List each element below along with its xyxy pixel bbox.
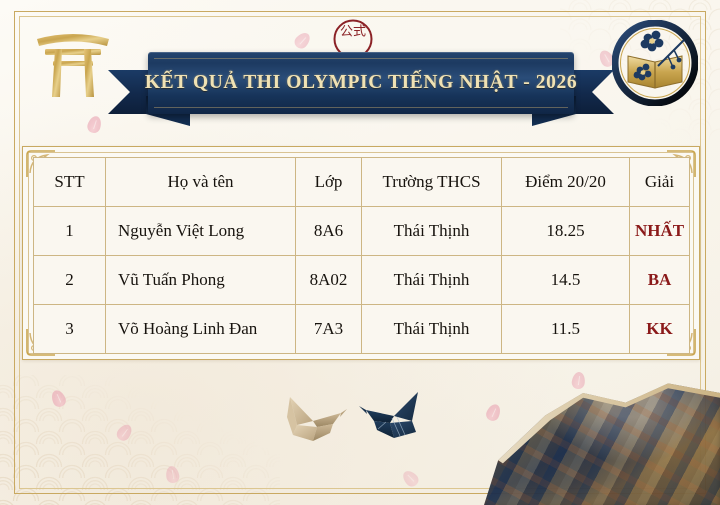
- cell-stt: 1: [34, 207, 106, 256]
- seigaiha-wave-pattern-icon: [0, 375, 280, 505]
- sakura-petal-icon: [49, 388, 68, 409]
- cell-giai: BA: [630, 256, 690, 305]
- stamp-char-top: 公式: [340, 25, 366, 40]
- table-row: 2 Vũ Tuấn Phong 8A02 Thái Thịnh 14.5 BA: [34, 256, 690, 305]
- cell-stt: 2: [34, 256, 106, 305]
- cell-name: Võ Hoàng Linh Đan: [106, 305, 296, 354]
- table-header-row: STT Họ và tên Lớp Trường THCS Điểm 20/20…: [34, 158, 690, 207]
- cell-truong: Thái Thịnh: [362, 207, 502, 256]
- column-header-giai: Giải: [630, 158, 690, 207]
- poster-canvas: 公式 KẾT QUẢ THI OLYMPIC TIẾNG NHẬT - 2026: [0, 0, 720, 505]
- cell-diem: 11.5: [502, 305, 630, 354]
- title-ribbon: KẾT QUẢ THI OLYMPIC TIẾNG NHẬT - 2026: [108, 52, 614, 130]
- table-row: 3 Võ Hoàng Linh Đan 7A3 Thái Thịnh 11.5 …: [34, 305, 690, 354]
- ribbon-band: KẾT QUẢ THI OLYMPIC TIẾNG NHẬT - 2026: [148, 52, 574, 114]
- results-table-frame: STT Họ và tên Lớp Trường THCS Điểm 20/20…: [22, 146, 700, 360]
- column-header-stt: STT: [34, 158, 106, 207]
- cell-stt: 3: [34, 305, 106, 354]
- cell-lop: 8A02: [296, 256, 362, 305]
- cell-truong: Thái Thịnh: [362, 256, 502, 305]
- sakura-petal-icon: [292, 30, 313, 51]
- sakura-petal-icon: [400, 468, 421, 489]
- book-sakura-emblem-icon: [612, 20, 698, 106]
- sakura-petal-icon: [114, 422, 135, 443]
- page-title: KẾT QUẢ THI OLYMPIC TIẾNG NHẬT - 2026: [145, 72, 577, 94]
- obi-textile-pattern: [484, 345, 720, 505]
- table-row: 1 Nguyễn Việt Long 8A6 Thái Thịnh 18.25 …: [34, 207, 690, 256]
- column-header-name: Họ và tên: [106, 158, 296, 207]
- sakura-petal-icon: [571, 371, 586, 390]
- sakura-petal-icon: [165, 465, 181, 484]
- torii-gate-icon: [33, 27, 113, 99]
- cell-truong: Thái Thịnh: [362, 305, 502, 354]
- column-header-truong: Trường THCS: [362, 158, 502, 207]
- origami-crane-tan-icon: [283, 393, 349, 449]
- cell-diem: 18.25: [502, 207, 630, 256]
- origami-crane-navy-icon: [356, 388, 426, 448]
- cell-lop: 7A3: [296, 305, 362, 354]
- column-header-diem: Điểm 20/20: [502, 158, 630, 207]
- cell-diem: 14.5: [502, 256, 630, 305]
- column-header-lop: Lớp: [296, 158, 362, 207]
- cell-name: Nguyễn Việt Long: [106, 207, 296, 256]
- cell-giai: KK: [630, 305, 690, 354]
- sakura-petal-icon: [86, 114, 104, 134]
- sakura-petal-icon: [484, 402, 503, 423]
- results-table: STT Họ và tên Lớp Trường THCS Điểm 20/20…: [33, 157, 690, 354]
- cell-name: Vũ Tuấn Phong: [106, 256, 296, 305]
- cell-lop: 8A6: [296, 207, 362, 256]
- cell-giai: NHẤT: [630, 207, 690, 256]
